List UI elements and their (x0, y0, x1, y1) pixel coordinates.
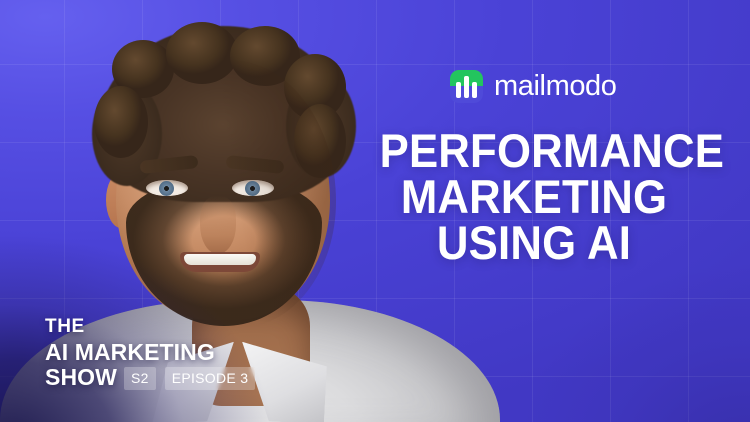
headline-line-1: PERFORMANCE (380, 128, 689, 174)
video-thumbnail: mailmodo PERFORMANCE MARKETING USING AI … (0, 0, 750, 422)
logo-bar (472, 82, 477, 98)
logo-bar (464, 76, 469, 98)
episode-badge: EPISODE 3 (165, 367, 256, 390)
mailmodo-logo-icon (450, 70, 483, 103)
season-badge: S2 (124, 367, 156, 390)
mailmodo-brand: mailmodo (450, 70, 617, 103)
mailmodo-wordmark: mailmodo (494, 72, 617, 101)
logo-bar (456, 82, 461, 98)
headline-line-3: USING AI (380, 220, 689, 266)
headline: PERFORMANCE MARKETING USING AI (380, 128, 689, 266)
show-title-row: SHOW S2 EPISODE 3 (45, 366, 255, 390)
show-title-line-1: AI MARKETING (45, 341, 255, 365)
show-prefix: THE (45, 317, 255, 336)
show-lockup: THE AI MARKETING SHOW S2 EPISODE 3 (45, 317, 255, 390)
headline-line-2: MARKETING (380, 174, 689, 220)
show-title-line-2: SHOW (45, 366, 117, 390)
